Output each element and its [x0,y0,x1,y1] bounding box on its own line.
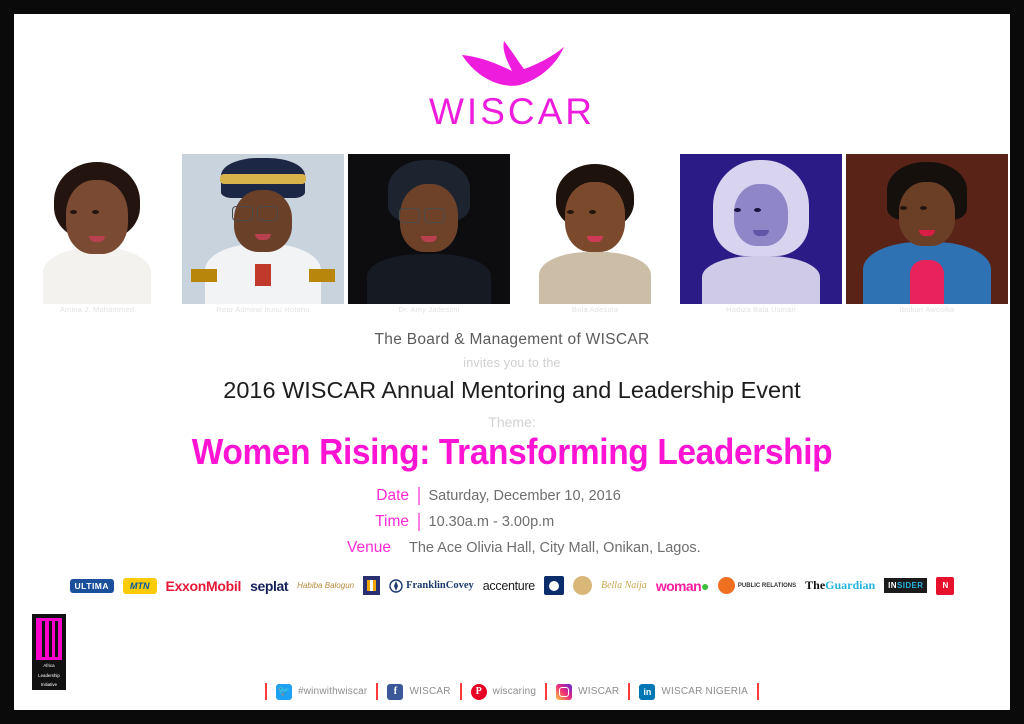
social-divider [757,683,759,700]
sponsor-public-relations: PUBLIC RELATIONS [718,576,796,596]
sponsor-guardian: TheThe GuardianGuardian [805,576,875,596]
social-linkedin[interactable]: in WISCAR NIGERIA [639,684,748,700]
event-details: Date Saturday, December 10, 2016 Time 10… [347,487,677,557]
sponsor-habiba-balogun: Habiba Balogun [297,576,354,596]
social-handle: #winwithwiscar [298,686,368,697]
event-flyer: WISCAR [14,14,1010,710]
detail-divider [418,513,420,531]
theme-headline: Women Rising: Transforming Leadership [49,431,975,473]
speaker-photo [348,154,510,304]
detail-divider [418,487,420,505]
sponsor-tower-icon [363,576,380,596]
sponsor-mtn: MTN [123,576,157,596]
instagram-icon [556,684,572,700]
social-divider [545,683,547,700]
detail-label: Time [347,513,418,531]
detail-value: Saturday, December 10, 2016 [429,488,621,504]
speaker-photo [846,154,1008,304]
speaker-name: Rear Admiral Itunu Hotonu [182,306,344,315]
theme-label: Theme: [14,414,1010,430]
social-instagram[interactable]: WISCAR [556,684,619,700]
africa-leadership-initiative-badge: Africa Leadership Initiative [32,614,66,690]
detail-label: Venue [347,539,400,557]
speaker-name: Bola Adesola [514,306,676,315]
detail-row: Date Saturday, December 10, 2016 [347,487,677,505]
invitation-block: The Board & Management of WISCAR invites… [14,331,1010,473]
speaker-photo [182,154,344,304]
speaker-portraits [14,154,1010,304]
sponsor-seplat: seplat [250,576,288,596]
speaker-name: Dr. Amy Jadesimi [348,306,510,315]
sponsor-gold-badge [573,576,592,596]
detail-value: The Ace Olivia Hall, City Mall, Onikan, … [409,540,701,556]
social-handle: WISCAR [578,686,619,697]
speaker-name: Ibukun Awosika [846,306,1008,315]
social-facebook[interactable]: f WISCAR [387,684,450,700]
brand-wordmark: WISCAR [429,93,595,130]
pinterest-icon: P [471,684,487,700]
social-handle: WISCAR [409,686,450,697]
sponsor-exxonmobil: ExxonMobil [166,576,242,596]
speaker-photo [680,154,842,304]
sponsor-red-mark: N [936,576,954,596]
social-pinterest[interactable]: P wiscaring [471,684,536,700]
ali-artwork [36,618,62,660]
board-line: The Board & Management of WISCAR [14,331,1010,349]
bird-icon [456,39,568,91]
speaker-name: Amina J. Mohammed [16,306,178,315]
speaker-name: Hadiza Bala Usman [680,306,842,315]
speaker-photo [514,154,676,304]
social-divider [460,683,462,700]
sponsor-accenture: accenture [483,576,535,596]
sponsor-womanng: woman● [656,576,709,596]
ali-line-1: Africa [43,663,54,670]
detail-value: 10.30a.m - 3.00p.m [429,514,555,530]
social-handle: WISCAR NIGERIA [661,686,748,697]
social-bar: 🐦 #winwithwiscar f WISCAR P wiscaring WI… [14,683,1010,700]
social-divider [628,683,630,700]
detail-label: Date [347,487,418,505]
sponsor-ultima: ULTIMA [70,576,114,596]
detail-row: Time 10.30a.m - 3.00p.m [347,513,677,531]
invites-line: invites you to the [14,356,1010,370]
brand-logo: WISCAR [14,14,1010,154]
event-title: 2016 WISCAR Annual Mentoring and Leaders… [14,377,1010,404]
sponsor-insider: INSIDER [884,576,927,596]
ali-line-2: Leadership [38,673,60,680]
speaker-photo [16,154,178,304]
social-twitter[interactable]: 🐦 #winwithwiscar [276,684,368,700]
compass-icon [389,579,403,593]
sponsor-channels-tv [544,576,564,596]
sponsor-franklincovey: FranklinCovey [389,576,474,596]
detail-row: Venue The Ace Olivia Hall, City Mall, On… [347,539,677,557]
speaker-names: Amina J. Mohammed Rear Admiral Itunu Hot… [14,306,1010,315]
social-divider [265,683,267,700]
twitter-icon: 🐦 [276,684,292,700]
sponsor-row: ULTIMA MTN ExxonMobil seplat Habiba Balo… [14,573,1010,599]
sponsor-bellanaija: Bella Naija [601,576,647,596]
social-divider [376,683,378,700]
social-handle: wiscaring [493,686,536,697]
linkedin-icon: in [639,684,655,700]
facebook-icon: f [387,684,403,700]
